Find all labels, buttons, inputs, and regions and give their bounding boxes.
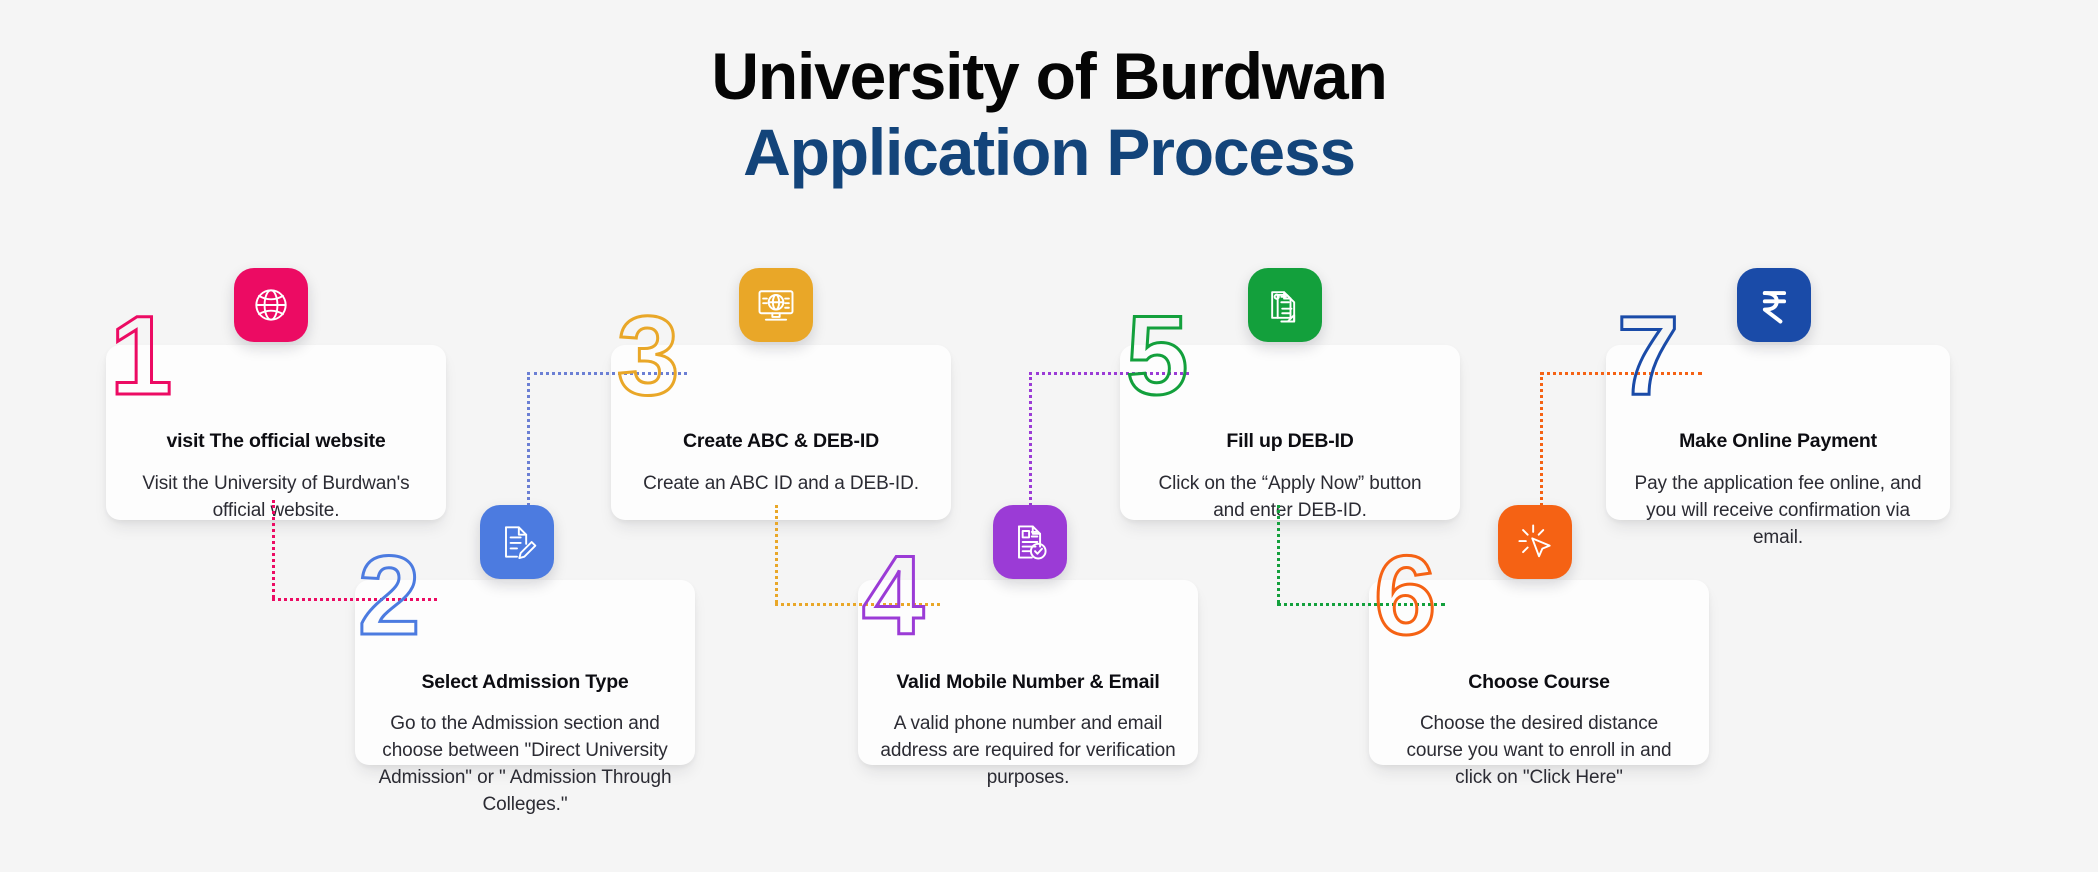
step-title-1: visit The official website (128, 429, 424, 454)
step-description-3: Create an ABC ID and a DEB-ID. (633, 471, 929, 498)
step-title-2: Select Admission Type (377, 670, 673, 695)
monitor-globe-icon[interactable] (739, 268, 813, 342)
connector-segment (527, 372, 530, 512)
step-numeral-3: 3 (617, 300, 679, 412)
step-numeral-7: 7 (1617, 300, 1679, 412)
step-numeral-5: 5 (1126, 300, 1188, 412)
connector-segment (1540, 372, 1543, 512)
step-title-3: Create ABC & DEB-ID (633, 429, 929, 454)
id-card-check-icon[interactable] (993, 505, 1067, 579)
globe-icon[interactable] (234, 268, 308, 342)
step-description-6: Choose the desired distance course you w… (1391, 711, 1687, 792)
document-edit-icon[interactable] (480, 505, 554, 579)
click-cursor-icon[interactable] (1498, 505, 1572, 579)
step-numeral-2: 2 (358, 540, 420, 652)
step-numeral-1: 1 (110, 300, 172, 412)
step-numeral-4: 4 (862, 540, 924, 652)
title-line-secondary: Application Process (0, 114, 2098, 191)
connector-segment (1029, 372, 1032, 512)
stacked-documents-icon[interactable] (1248, 268, 1322, 342)
page-title: University of Burdwan Application Proces… (0, 40, 2098, 190)
step-title-5: Fill up DEB-ID (1142, 429, 1438, 454)
rupee-icon[interactable] (1737, 268, 1811, 342)
step-title-4: Valid Mobile Number & Email (880, 670, 1176, 695)
step-description-2: Go to the Admission section and choose b… (377, 711, 673, 819)
step-description-1: Visit the University of Burdwan's offici… (128, 471, 424, 525)
connector-segment (1277, 505, 1280, 603)
step-description-7: Pay the application fee online, and you … (1628, 471, 1928, 552)
connector-segment (272, 500, 275, 598)
connector-segment (775, 505, 778, 603)
step-numeral-6: 6 (1374, 540, 1436, 652)
step-description-5: Click on the “Apply Now” button and ente… (1142, 471, 1438, 525)
step-title-6: Choose Course (1391, 670, 1687, 695)
title-line-primary: University of Burdwan (0, 40, 2098, 114)
step-title-7: Make Online Payment (1628, 429, 1928, 454)
step-description-4: A valid phone number and email address a… (880, 711, 1176, 792)
infographic-canvas: University of Burdwan Application Proces… (0, 0, 2098, 872)
